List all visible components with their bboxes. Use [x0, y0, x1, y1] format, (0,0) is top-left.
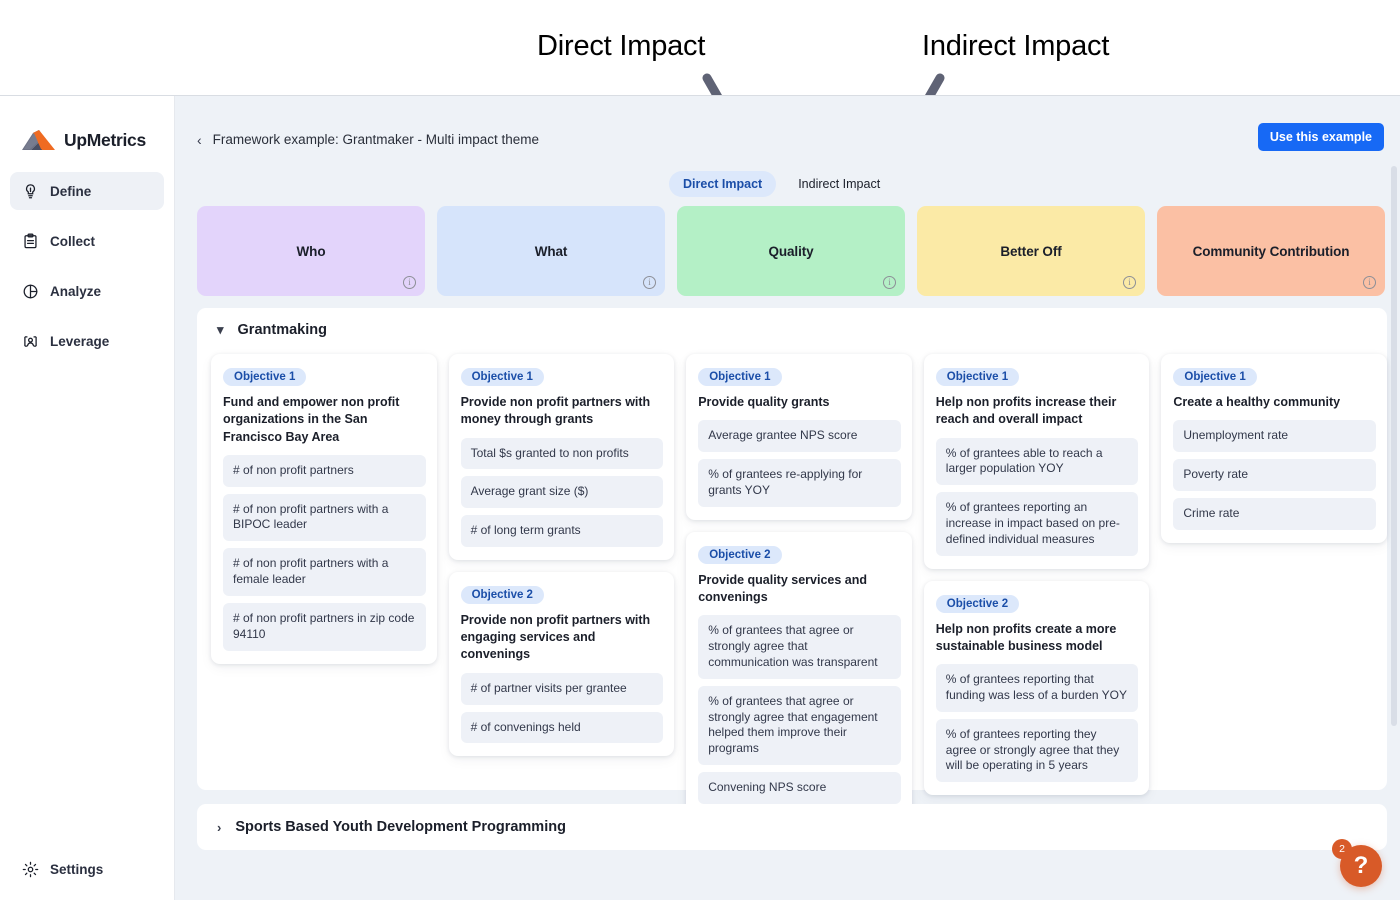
category-label: Quality — [768, 244, 813, 259]
metric-item[interactable]: Crime rate — [1173, 498, 1376, 530]
info-icon[interactable]: i — [1123, 276, 1136, 289]
objective-title: Provide quality services and convenings — [698, 572, 901, 607]
pie-chart-icon — [22, 283, 39, 300]
group-panel-grantmaking: ▾ Grantmaking Objective 1Fund and empowe… — [197, 308, 1387, 790]
sidebar-item-analyze[interactable]: Analyze — [10, 272, 164, 310]
sidebar-item-label: Leverage — [50, 334, 109, 349]
objective-column: Objective 1Provide non profit partners w… — [449, 354, 675, 817]
scrollbar-thumb[interactable] — [1391, 166, 1397, 726]
breadcrumb-title: Framework example: Grantmaker - Multi im… — [213, 132, 539, 147]
info-icon[interactable]: i — [403, 276, 416, 289]
chevron-right-icon[interactable]: › — [217, 820, 221, 835]
objective-badge: Objective 1 — [223, 368, 306, 386]
category-label: Better Off — [1000, 244, 1061, 259]
metric-item[interactable]: % of grantees re-applying for grants YOY — [698, 459, 901, 507]
info-icon[interactable]: i — [883, 276, 896, 289]
metric-item[interactable]: # of non profit partners with a female l… — [223, 548, 426, 596]
breadcrumb[interactable]: ‹ Framework example: Grantmaker - Multi … — [197, 132, 539, 147]
screen-root: Direct ImpactIndirect Impact UpMetrics — [0, 0, 1400, 900]
gear-icon — [22, 861, 39, 878]
brand[interactable]: UpMetrics — [0, 96, 174, 158]
objective-title: Provide non profit partners with engagin… — [461, 612, 664, 664]
topbar: ‹ Framework example: Grantmaker - Multi … — [175, 96, 1400, 162]
metric-item[interactable]: # of non profit partners with a BIPOC le… — [223, 494, 426, 542]
objective-column: Objective 1Create a healthy communityUne… — [1161, 354, 1387, 817]
tab-indirect-impact[interactable]: Indirect Impact — [784, 171, 894, 197]
objective-badge: Objective 1 — [936, 368, 1019, 386]
sidebar-item-label: Settings — [50, 862, 103, 877]
objective-card[interactable]: Objective 2Provide quality services and … — [686, 532, 912, 817]
tab-direct-impact[interactable]: Direct Impact — [669, 171, 776, 197]
chevron-left-icon[interactable]: ‹ — [197, 133, 202, 147]
metric-item[interactable]: # of non profit partners in zip code 941… — [223, 603, 426, 651]
sidebar-nav: Define Collect Analyze — [0, 172, 174, 360]
category-card[interactable]: Better Offi — [917, 206, 1145, 296]
brand-name: UpMetrics — [64, 130, 146, 151]
objective-badge: Objective 2 — [936, 595, 1019, 613]
category-header-row: WhoiWhatiQualityiBetter OffiCommunity Co… — [197, 206, 1387, 296]
sidebar-item-label: Collect — [50, 234, 95, 249]
annotation-label: Indirect Impact — [922, 30, 1109, 63]
objective-columns: Objective 1Fund and empower non profit o… — [211, 354, 1387, 817]
metric-item[interactable]: % of grantees that agree or strongly agr… — [698, 686, 901, 765]
objective-title: Fund and empower non profit organization… — [223, 394, 426, 446]
objective-card[interactable]: Objective 1Fund and empower non profit o… — [211, 354, 437, 664]
help-notification-badge: 2 — [1332, 839, 1352, 859]
objective-card[interactable]: Objective 2Help non profits create a mor… — [924, 581, 1150, 796]
objective-badge: Objective 1 — [1173, 368, 1256, 386]
metric-item[interactable]: Total $s granted to non profits — [461, 438, 664, 470]
question-mark-icon: ? — [1354, 852, 1369, 880]
category-card[interactable]: Whoi — [197, 206, 425, 296]
chevron-down-icon[interactable]: ▾ — [217, 322, 224, 338]
metric-item[interactable]: Poverty rate — [1173, 459, 1376, 491]
objective-title: Help non profits increase their reach an… — [936, 394, 1139, 429]
user-card-icon — [22, 333, 39, 350]
info-icon[interactable]: i — [643, 276, 656, 289]
group-title: Sports Based Youth Development Programmi… — [235, 819, 566, 835]
sidebar-item-collect[interactable]: Collect — [10, 222, 164, 260]
category-label: What — [535, 244, 568, 259]
metric-item[interactable]: # of partner visits per grantee — [461, 673, 664, 705]
objective-badge: Objective 2 — [461, 586, 544, 604]
sidebar: UpMetrics Define — [0, 96, 175, 900]
metric-item[interactable]: % of grantees able to reach a larger pop… — [936, 438, 1139, 486]
objective-card[interactable]: Objective 1Help non profits increase the… — [924, 354, 1150, 569]
metric-item[interactable]: Convening NPS score — [698, 772, 901, 804]
objective-title: Help non profits create a more sustainab… — [936, 621, 1139, 656]
impact-tabs: Direct ImpactIndirect Impact — [669, 171, 894, 197]
metric-item[interactable]: % of grantees reporting that funding was… — [936, 664, 1139, 712]
group-title: Grantmaking — [238, 322, 327, 338]
objective-title: Provide quality grants — [698, 394, 901, 411]
objective-column: Objective 1Provide quality grantsAverage… — [686, 354, 912, 817]
group-header-sports[interactable]: › Sports Based Youth Development Program… — [197, 804, 1387, 850]
objective-card[interactable]: Objective 2Provide non profit partners w… — [449, 572, 675, 756]
metric-item[interactable]: % of grantees reporting an increase in i… — [936, 492, 1139, 555]
group-header-grantmaking[interactable]: ▾ Grantmaking — [197, 308, 1387, 338]
category-label: Community Contribution — [1193, 244, 1350, 259]
metric-item[interactable]: # of convenings held — [461, 712, 664, 744]
sidebar-item-label: Define — [50, 184, 91, 199]
objective-badge: Objective 1 — [698, 368, 781, 386]
upmetrics-logo-icon — [22, 129, 56, 151]
objective-card[interactable]: Objective 1Provide quality grantsAverage… — [686, 354, 912, 520]
category-label: Who — [297, 244, 326, 259]
help-widget: 2 ? — [1326, 831, 1386, 891]
main-content: ‹ Framework example: Grantmaker - Multi … — [175, 96, 1400, 900]
category-card[interactable]: Community Contributioni — [1157, 206, 1385, 296]
category-card[interactable]: Whati — [437, 206, 665, 296]
metric-item[interactable]: % of grantees reporting they agree or st… — [936, 719, 1139, 782]
objective-title: Create a healthy community — [1173, 394, 1376, 411]
clipboard-icon — [22, 233, 39, 250]
metric-item[interactable]: Average grantee NPS score — [698, 420, 901, 452]
metric-item[interactable]: # of long term grants — [461, 515, 664, 547]
sidebar-item-settings[interactable]: Settings — [10, 851, 115, 887]
objective-card[interactable]: Objective 1Provide non profit partners w… — [449, 354, 675, 560]
objective-title: Provide non profit partners with money t… — [461, 394, 664, 429]
info-icon[interactable]: i — [1363, 276, 1376, 289]
metric-item[interactable]: Unemployment rate — [1173, 420, 1376, 452]
objective-column: Objective 1Help non profits increase the… — [924, 354, 1150, 817]
application-window: UpMetrics Define — [0, 95, 1400, 900]
use-this-example-button[interactable]: Use this example — [1258, 123, 1384, 151]
sidebar-item-define[interactable]: Define — [10, 172, 164, 210]
lightbulb-icon — [22, 183, 39, 200]
objective-badge: Objective 1 — [461, 368, 544, 386]
objective-badge: Objective 2 — [698, 546, 781, 564]
objective-card[interactable]: Objective 1Create a healthy communityUne… — [1161, 354, 1387, 543]
metric-item[interactable]: Average grant size ($) — [461, 476, 664, 508]
sidebar-item-label: Analyze — [50, 284, 101, 299]
vertical-scrollbar[interactable] — [1391, 166, 1397, 866]
category-card[interactable]: Qualityi — [677, 206, 905, 296]
objective-column: Objective 1Fund and empower non profit o… — [211, 354, 437, 817]
metric-item[interactable]: % of grantees that agree or strongly agr… — [698, 615, 901, 678]
metric-item[interactable]: # of non profit partners — [223, 455, 426, 487]
sidebar-item-leverage[interactable]: Leverage — [10, 322, 164, 360]
annotation-label: Direct Impact — [537, 30, 705, 63]
